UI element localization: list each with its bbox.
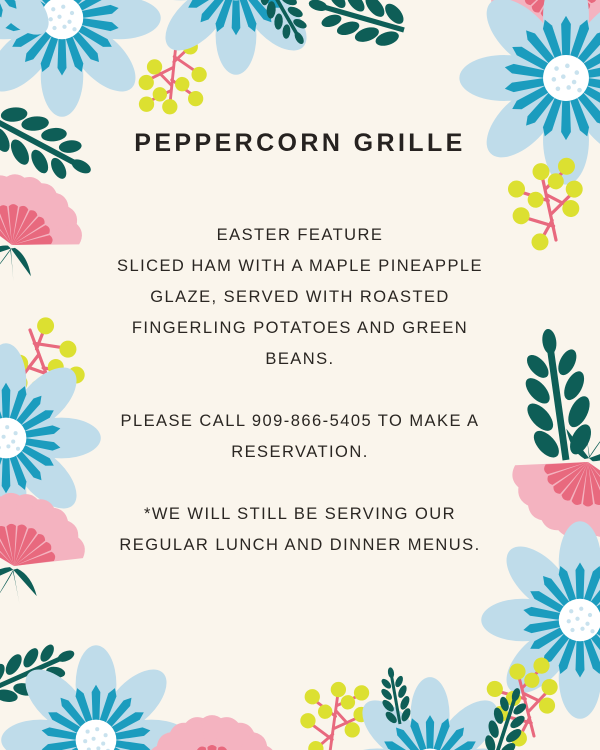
poster-canvas: PEPPERCORN GRILLE EASTER FEATURE SLICED … <box>0 0 600 750</box>
page-title: PEPPERCORN GRILLE <box>134 130 465 158</box>
text-line: REGULAR LUNCH AND DINNER MENUS. <box>100 530 500 561</box>
regular-menus-block: *WE WILL STILL BE SERVING OUR REGULAR LU… <box>100 499 500 561</box>
poster-content: PEPPERCORN GRILLE EASTER FEATURE SLICED … <box>0 0 600 750</box>
reservation-block: PLEASE CALL 909-866-5405 TO MAKE A RESER… <box>100 406 500 468</box>
text-line-phone: PLEASE CALL 909-866-5405 TO MAKE A <box>100 406 500 437</box>
easter-feature-block: EASTER FEATURE SLICED HAM WITH A MAPLE P… <box>100 220 500 375</box>
text-line: SLICED HAM WITH A MAPLE PINEAPPLE <box>100 251 500 282</box>
text-line: *WE WILL STILL BE SERVING OUR <box>100 499 500 530</box>
text-line: BEANS. <box>100 344 500 375</box>
text-line: EASTER FEATURE <box>100 220 500 251</box>
poster-body: EASTER FEATURE SLICED HAM WITH A MAPLE P… <box>100 220 500 561</box>
text-line: RESERVATION. <box>100 437 500 468</box>
text-line: GLAZE, SERVED WITH ROASTED <box>100 282 500 313</box>
text-line: FINGERLING POTATOES AND GREEN <box>100 313 500 344</box>
